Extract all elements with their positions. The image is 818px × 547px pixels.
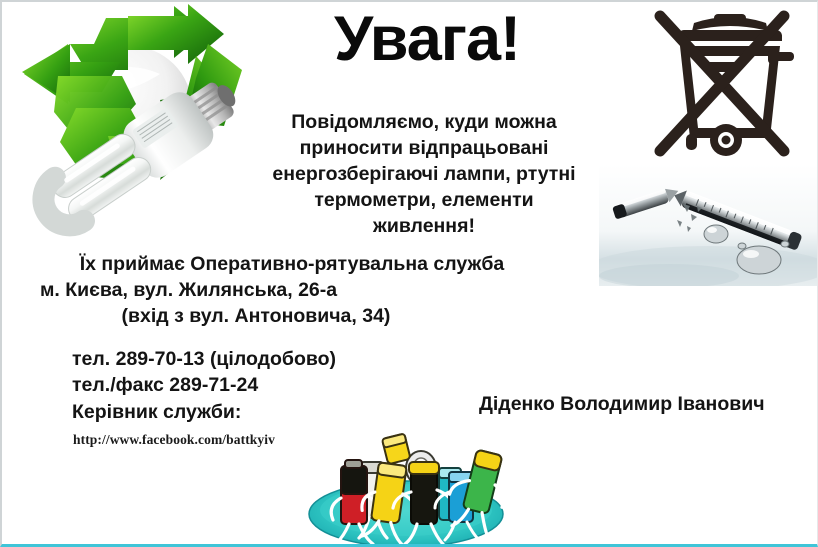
crossed-out-bin-icon: [650, 6, 810, 164]
intro-paragraph: Повідомляємо, куди можна приносити відпр…: [264, 110, 584, 240]
dancing-batteries-icon: [299, 422, 514, 547]
director-label: Керівник служби:: [72, 399, 336, 425]
facebook-url[interactable]: http://www.facebook.com/battkyiv: [73, 432, 275, 448]
fax-line: тел./факс 289-71-24: [72, 372, 336, 398]
intro-line: Повідомляємо, куди можна: [264, 110, 584, 136]
intro-line: термометри, елементи: [264, 188, 584, 214]
intro-line: енергозберігаючі лампи, ртутні: [264, 162, 584, 188]
poster-title: Увага!: [302, 6, 552, 72]
address-line: м. Києва, вул. Жилянська, 26-а: [32, 278, 552, 304]
intro-line: приносити відпрацьовані: [264, 136, 584, 162]
broken-thermometer-photo: [599, 164, 818, 286]
poster-canvas: Увага! Повідомляємо, куди можна приносит…: [0, 0, 818, 547]
address-block: Їх приймає Оперативно-рятувальна служба …: [32, 252, 552, 330]
contacts-block: тел. 289-70-13 (цілодобово) тел./факс 28…: [72, 346, 336, 425]
director-name: Діденко Володимир Іванович: [479, 393, 765, 416]
address-line: (вхід з вул. Антоновича, 34): [32, 304, 552, 330]
address-line: Їх приймає Оперативно-рятувальна служба: [32, 252, 552, 278]
phone-line: тел. 289-70-13 (цілодобово): [72, 346, 336, 372]
recycle-lamp-icon: [10, 4, 285, 244]
intro-line: живлення!: [264, 214, 584, 240]
